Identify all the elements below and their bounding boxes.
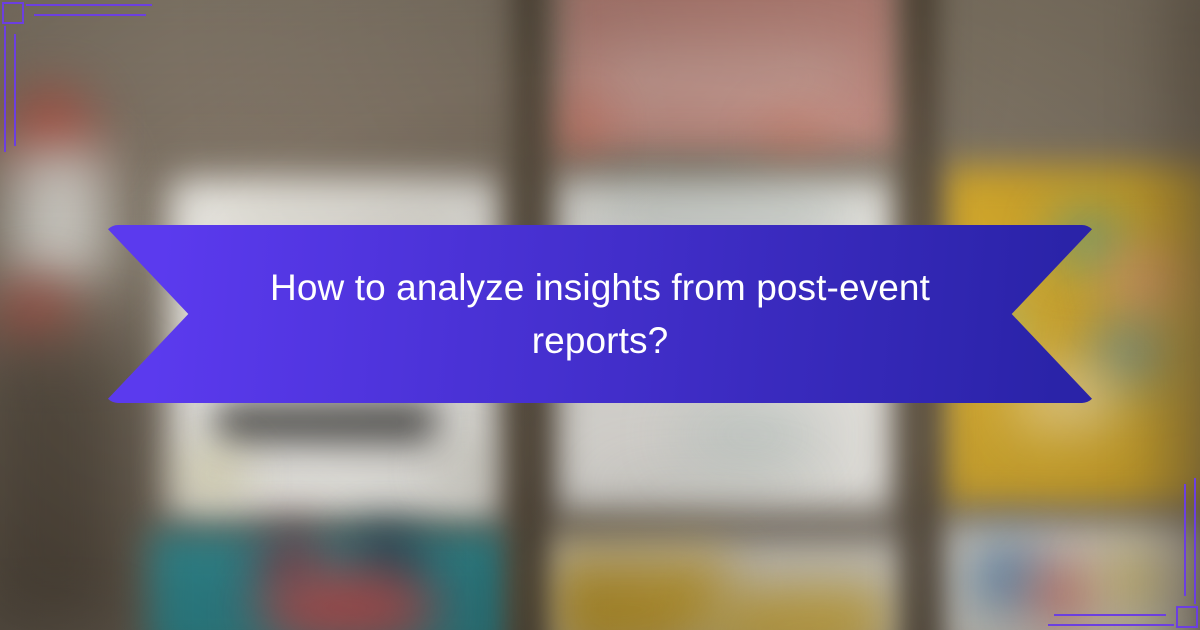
background-poster-coral-text — [594, 56, 854, 100]
background-blob-bottomright-yellow — [1100, 552, 1170, 610]
background-blob-dark-left — [0, 340, 130, 630]
background-poster-coral-accent-2 — [770, 122, 820, 156]
background-poster-coral-accent — [566, 104, 596, 154]
background-blob-confetti-pink — [1110, 252, 1180, 310]
background-poster-left-swatch-a — [186, 458, 240, 492]
social-card: How to analyze insights from post-event … — [0, 0, 1200, 630]
background-poster-center-headline — [592, 196, 854, 226]
headline-ribbon: How to analyze insights from post-event … — [104, 225, 1096, 403]
background-blob-bottomright-red — [1032, 566, 1090, 622]
background-poster-center-line — [684, 422, 816, 448]
background-poster-left-darkbar — [216, 402, 436, 442]
background-poster-center-line-2 — [600, 480, 810, 496]
headline-text: How to analyze insights from post-event … — [255, 261, 945, 367]
background-poster-left-swatch-b — [440, 452, 488, 484]
background-blob-white-left — [10, 150, 106, 280]
background-blob-right-edge — [1172, 0, 1200, 630]
